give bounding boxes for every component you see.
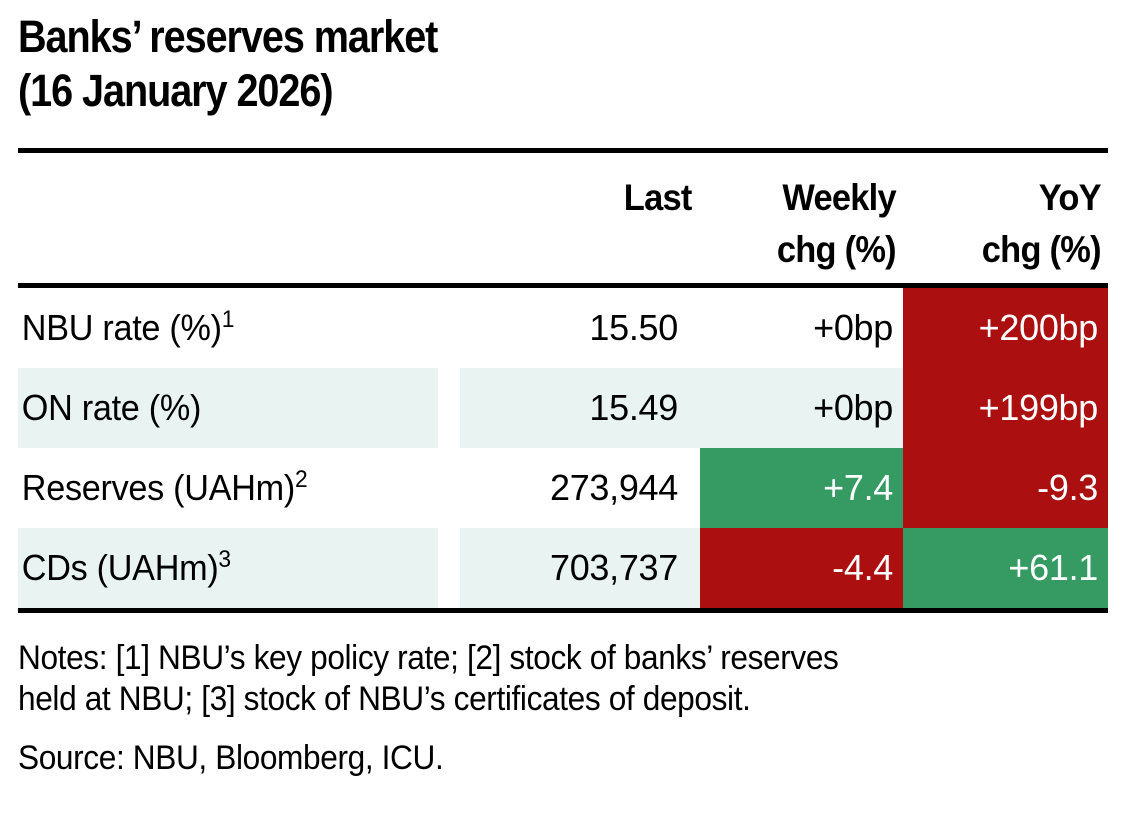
table-row: ON rate (%) 15.49 +0bp +199bp xyxy=(18,368,1108,448)
table-bottom-rule xyxy=(18,608,1108,613)
table-figure: Banks’ reserves market (16 January 2026)… xyxy=(0,0,1134,825)
header-weekly-line1: Weekly xyxy=(707,153,896,221)
cell-weekly-nbu-rate: +0bp xyxy=(700,288,903,368)
notes-line-2: held at NBU; [3] stock of NBU’s certific… xyxy=(18,679,1041,720)
table-row: Reserves (UAHm)2 273,944 +7.4 -9.3 xyxy=(18,448,1108,528)
source-line: Source: NBU, Bloomberg, ICU. xyxy=(18,738,1041,779)
title-line-1: Banks’ reserves market xyxy=(18,10,977,64)
footnote-marker: 3 xyxy=(218,546,230,573)
cell-weekly-cds: -4.4 xyxy=(700,528,903,608)
notes-line-1: Notes: [1] NBU’s key policy rate; [2] st… xyxy=(18,638,1041,679)
cell-yoy-cds: +61.1 xyxy=(903,528,1108,608)
table-header-row-top: Last Weekly YoY xyxy=(18,153,1108,221)
cell-yoy-reserves: -9.3 xyxy=(903,448,1108,528)
cell-last-reserves: 273,944 xyxy=(460,448,700,528)
header-yoy-line1: YoY xyxy=(910,153,1101,221)
footnote-marker: 2 xyxy=(295,466,307,493)
table-header-row-bottom: chg (%) chg (%) xyxy=(18,221,1108,283)
cell-last-on-rate: 15.49 xyxy=(460,368,700,448)
row-label-reserves: Reserves (UAHm)2 xyxy=(18,448,438,528)
figure-footer: Notes: [1] NBU’s key policy rate; [2] st… xyxy=(18,638,1118,779)
header-last: Last xyxy=(468,153,691,221)
header-weekly-line2: chg (%) xyxy=(707,221,896,283)
header-last-line2 xyxy=(468,221,691,283)
table-row: NBU rate (%)1 15.50 +0bp +200bp xyxy=(18,288,1108,368)
table-head-grid: Last Weekly YoY chg (%) chg (%) xyxy=(18,153,1108,283)
table-header: Last Weekly YoY chg (%) chg (%) xyxy=(18,153,1108,283)
cell-last-cds: 703,737 xyxy=(460,528,700,608)
table-body: NBU rate (%)1 15.50 +0bp +200bp ON rate … xyxy=(18,288,1108,608)
cell-last-nbu-rate: 15.50 xyxy=(460,288,700,368)
header-yoy-line2: chg (%) xyxy=(910,221,1101,283)
row-label-on-rate: ON rate (%) xyxy=(18,368,438,448)
row-label-nbu-rate: NBU rate (%)1 xyxy=(18,288,438,368)
table-body-grid: NBU rate (%)1 15.50 +0bp +200bp ON rate … xyxy=(18,288,1108,608)
header-label-blank-2 xyxy=(33,221,444,283)
page-title: Banks’ reserves market (16 January 2026) xyxy=(18,10,1108,118)
cell-weekly-reserves: +7.4 xyxy=(700,448,903,528)
header-label-blank xyxy=(33,153,444,221)
row-label-cds: CDs (UAHm)3 xyxy=(18,528,438,608)
footnote-marker: 1 xyxy=(222,306,234,333)
title-line-2: (16 January 2026) xyxy=(18,64,977,118)
table-row: CDs (UAHm)3 703,737 -4.4 +61.1 xyxy=(18,528,1108,608)
cell-yoy-nbu-rate: +200bp xyxy=(903,288,1108,368)
cell-yoy-on-rate: +199bp xyxy=(903,368,1108,448)
reserves-table: Last Weekly YoY chg (%) chg (%) NBU r xyxy=(18,148,1108,613)
cell-weekly-on-rate: +0bp xyxy=(700,368,903,448)
